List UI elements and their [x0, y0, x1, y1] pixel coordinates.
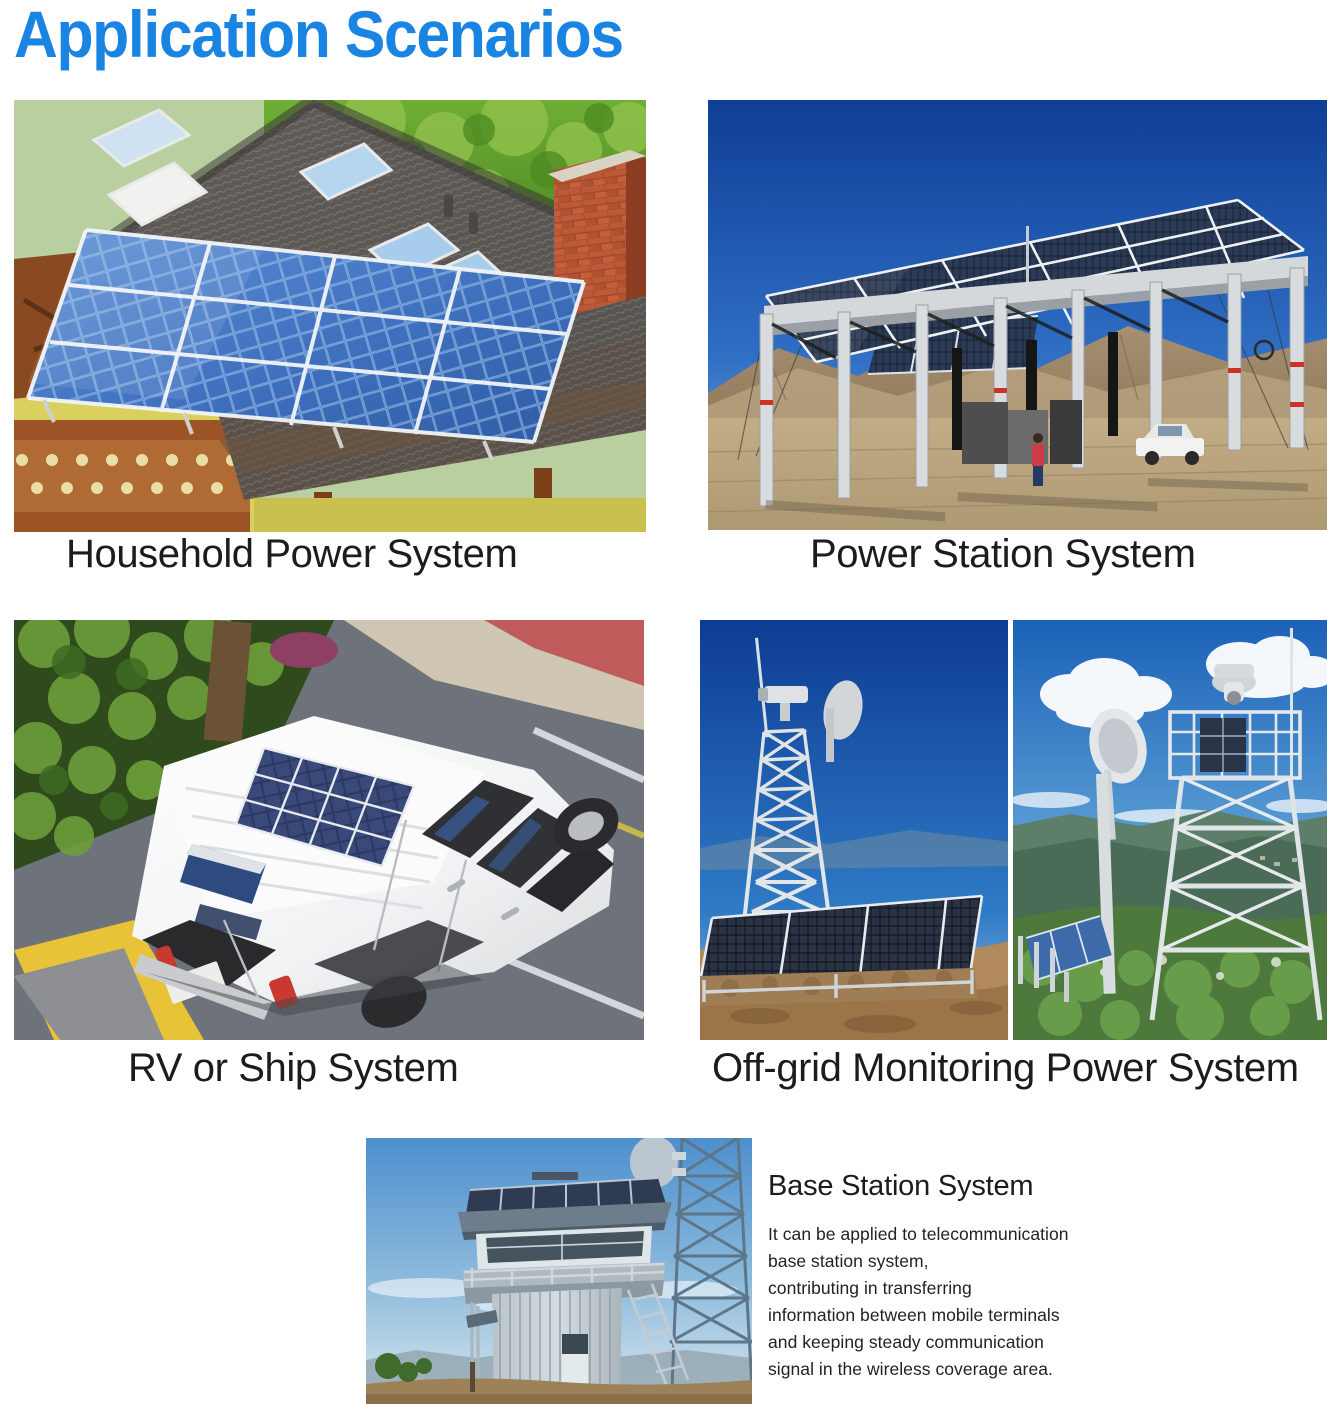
photo-base-station-system: [366, 1138, 752, 1404]
base-station-desc-line-1: It can be applied to telecommunication: [768, 1221, 1118, 1248]
power-station-illustration: [708, 100, 1327, 530]
infographic-page: Application Scenarios: [0, 0, 1336, 1406]
caption-rv-or-ship-system: RV or Ship System: [128, 1046, 458, 1091]
photo-off-grid-monitoring-power-system: [700, 620, 1327, 1040]
base-station-desc-line-3: contributing in transferring: [768, 1275, 1118, 1302]
caption-household-power-system: Household Power System: [66, 532, 517, 577]
caption-power-station-system: Power Station System: [810, 532, 1196, 577]
photo-rv-or-ship-system: [14, 620, 644, 1040]
base-station-desc-line-2: base station system,: [768, 1248, 1118, 1275]
base-station-info-block: Base Station System It can be applied to…: [768, 1170, 1118, 1383]
base-station-desc-line-4: information between mobile terminals: [768, 1302, 1118, 1329]
photo-household-power-system: [14, 100, 646, 532]
base-station-desc-line-5: and keeping steady communication: [768, 1329, 1118, 1356]
photo-power-station-system: [708, 100, 1327, 530]
household-illustration: [14, 100, 646, 532]
rv-illustration: [14, 620, 644, 1040]
base-station-title: Base Station System: [768, 1170, 1118, 1203]
off-grid-illustration: [700, 620, 1327, 1040]
base-station-desc-line-6: signal in the wireless coverage area.: [768, 1356, 1118, 1383]
caption-off-grid-monitoring-power-system: Off-grid Monitoring Power System: [712, 1046, 1299, 1091]
page-title: Application Scenarios: [14, 0, 623, 72]
base-station-illustration: [366, 1138, 752, 1404]
